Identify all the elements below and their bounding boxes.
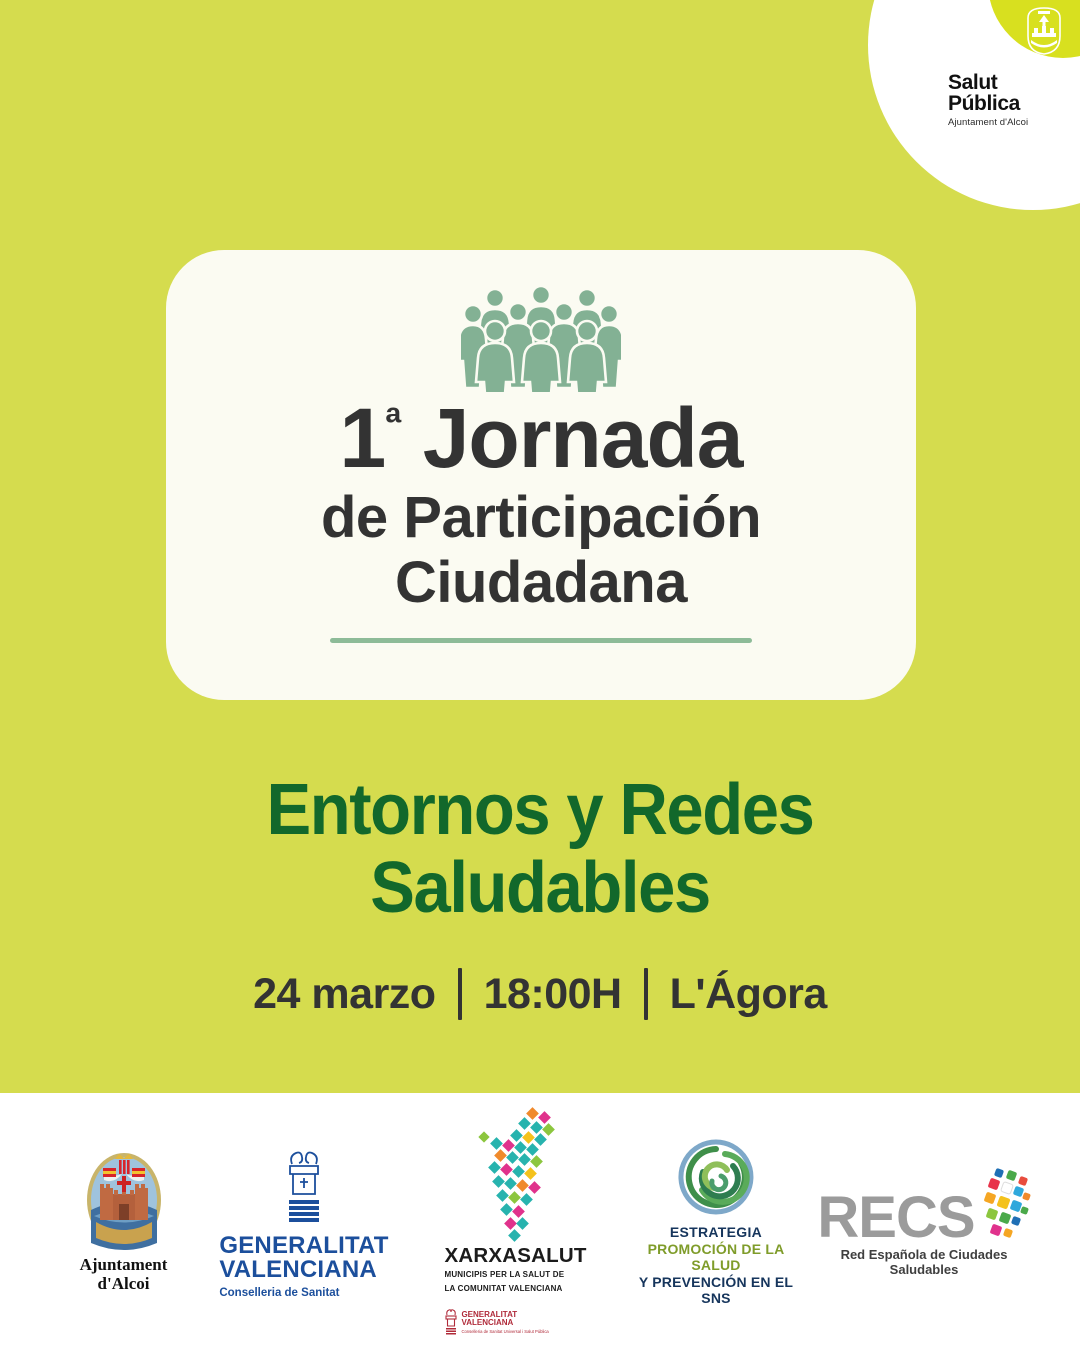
gva-line2: VALENCIANA [219,1258,388,1282]
alcoi-caption-line2: d'Alcoi [80,1274,168,1293]
recs-wordmark: RECS [817,1193,974,1243]
card-divider-rule [330,638,752,643]
estrategia-line1: ESTRATEGIA [624,1224,809,1241]
xarxasalut-sub-line2: VALENCIANA [461,1319,548,1327]
title-ordinal: 1 [339,391,385,485]
salut-publica-line3: Ajuntament d'Alcoi [948,118,1068,128]
estrategia-line2: PROMOCIÓN DE LA SALUD [624,1241,809,1274]
gva-line3: Conselleria de Sanitat [219,1288,388,1300]
meta-separator-icon [644,968,648,1020]
logo-estrategia-sns: ESTRATEGIA PROMOCIÓN DE LA SALUD Y PREVE… [624,1136,809,1307]
headline-line2: Saludables [38,850,1042,928]
green-spiral-icon [675,1136,757,1218]
alcoi-caption: Ajuntament d'Alcoi [80,1255,168,1293]
alcoi-coat-of-arms-icon [1018,2,1070,58]
salut-publica-line2: Pública [948,93,1068,114]
sponsor-logo-band: Ajuntament d'Alcoi [0,1093,1080,1350]
event-time: 18:00H [484,970,622,1019]
title-card: 1ª Jornada de Participación Ciudadana [166,250,916,700]
salut-publica-logo-text: Salut Pública Ajuntament d'Alcoi [948,72,1068,128]
alcoi-castle-crest-icon [84,1150,164,1250]
xarxasalut-text-block: XARXASALUT MUNICIPIS PER LA SALUT DE LA … [444,1246,586,1337]
estrategia-caption: ESTRATEGIA PROMOCIÓN DE LA SALUD Y PREVE… [624,1224,809,1307]
title-main: Jornada [423,391,743,485]
estrategia-line3: Y PREVENCIÓN EN EL SNS [624,1274,809,1307]
crowd-of-people-icon [461,282,621,392]
logo-ajuntament-alcoi: Ajuntament d'Alcoi [49,1150,199,1293]
xarxasalut-gva-text: GENERALITAT VALENCIANA Conselleria de Sa… [461,1311,548,1334]
recs-caption: Red Española de Ciudades Saludables [817,1247,1032,1277]
event-date: 24 marzo [253,970,435,1019]
poster: Salut Pública Ajuntament d'Alcoi [0,0,1080,1350]
generalitat-small-bat-icon [444,1308,458,1336]
card-title-primary: 1ª Jornada [339,396,742,480]
logo-xarxasalut: XARXASALUT MUNICIPIS PER LA SALUT DE LA … [416,1107,616,1337]
recs-wordmark-row: RECS [817,1167,1030,1243]
card-subtitle-line1: de Participación [321,486,761,551]
logo-recs: RECS [817,1167,1032,1277]
gva-text-block: GENERALITAT VALENCIANA Conselleria de Sa… [219,1234,388,1300]
xarxasalut-sub-line3: Conselleria de Sanitat Universal i Salut… [461,1329,548,1334]
xarxasalut-mosaic-map-icon [476,1107,556,1242]
xarxasalut-tagline-line2: LA COMUNITAT VALENCIANA [444,1284,586,1294]
card-subtitle-line2: Ciudadana [321,551,761,616]
event-headline: Entornos y Redes Saludables [38,772,1042,928]
recs-colored-globe-icon [969,1167,1031,1241]
gva-line1: GENERALITAT [219,1234,388,1258]
xarxasalut-tagline-line1: MUNICIPIS PER LA SALUT DE [444,1270,586,1280]
salut-publica-line1: Salut [948,72,1068,93]
xarxasalut-name: XARXASALUT [444,1246,586,1267]
event-meta-row: 24 marzo 18:00H L'Ágora [0,968,1080,1020]
event-venue: L'Ágora [670,970,827,1019]
alcoi-caption-line1: Ajuntament [80,1255,168,1274]
title-ordinal-superscript: ª [385,399,400,448]
logo-generalitat-valenciana: GENERALITAT VALENCIANA Conselleria de Sa… [207,1144,402,1300]
xarxasalut-gva-sublogo: GENERALITAT VALENCIANA Conselleria de Sa… [444,1308,586,1336]
headline-line1: Entornos y Redes [38,772,1042,850]
generalitat-valenciana-bat-icon [284,1144,324,1226]
meta-separator-icon [458,968,462,1020]
card-title-secondary: de Participación Ciudadana [321,486,761,616]
